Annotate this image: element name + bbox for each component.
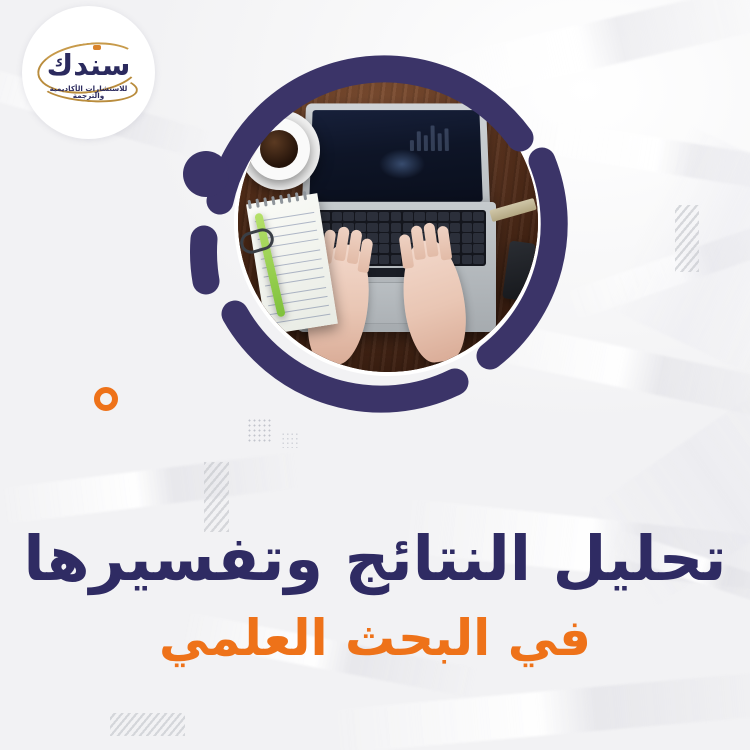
ring-arc-left-stub [203, 239, 206, 281]
logo-tagline: للاستشارات الأكاديمية والترجمة [36, 85, 142, 99]
hatch-right-top [675, 205, 699, 272]
orange-ring-icon [94, 387, 118, 411]
dot-grid-secondary [281, 432, 299, 448]
brand-logo-badge: سندك للاستشارات الأكاديمية والترجمة [22, 6, 155, 139]
ring-arc-bottom [235, 314, 455, 399]
hatch-bottom-left [110, 713, 185, 736]
ring-arc-right [490, 161, 554, 356]
dot-grid-primary [247, 418, 273, 444]
headline-line-2: في البحث العلمي [0, 609, 750, 668]
poster-canvas: سندك للاستشارات الأكاديمية والترجمة [0, 0, 750, 750]
logo-brand-name: سندك [36, 51, 142, 80]
ring-accent-dot [183, 151, 229, 197]
headline-block: تحليل النتائج وتفسيرها في البحث العلمي [0, 524, 750, 668]
hero-media [190, 26, 570, 426]
headline-line-1: تحليل النتائج وتفسيرها [0, 524, 750, 593]
logo-artwork: سندك للاستشارات الأكاديمية والترجمة [36, 42, 142, 104]
decorative-broken-ring [190, 26, 570, 426]
ring-arc-top [220, 69, 520, 201]
